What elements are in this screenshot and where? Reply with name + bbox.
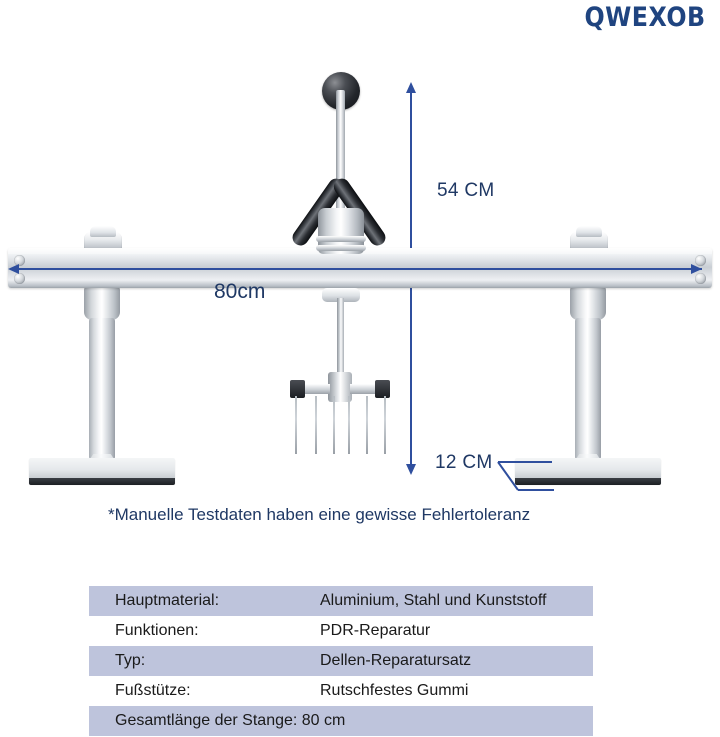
length-arrow-right: [691, 264, 702, 274]
spec-row-label: Typ:: [89, 646, 320, 676]
spec-row-value: PDR-Reparatur: [320, 616, 593, 646]
right-leg-knob-cap: [576, 226, 602, 237]
claw-cap-right: [375, 380, 390, 398]
spec-row-label: Gesamtlänge der Stange: 80 cm: [89, 706, 593, 736]
claw-pin-2: [315, 396, 317, 454]
spec-table-row: Funktionen:PDR-Reparatur: [89, 616, 593, 646]
claw-pin-6: [384, 396, 386, 454]
length-dimension-line: [18, 268, 702, 270]
spec-row-label: Hauptmaterial:: [89, 586, 320, 616]
right-leg-post: [575, 318, 601, 460]
claw-pin-3: [333, 396, 335, 454]
spec-table-row: Gesamtlänge der Stange: 80 cm: [89, 706, 593, 736]
foot-width-bracket: [496, 454, 558, 498]
product-infographic: QWEXOB: [0, 0, 720, 737]
claw-cap-left: [290, 380, 305, 398]
specification-table-body: Hauptmaterial:Aluminium, Stahl und Kunst…: [89, 586, 593, 736]
height-arrow-top: [406, 82, 416, 93]
bar-bolt-left-lower: [14, 273, 25, 284]
foot-width-dimension-label: 12 CM: [435, 452, 492, 474]
left-leg-collar: [84, 286, 120, 320]
specification-table: Hauptmaterial:Aluminium, Stahl und Kunst…: [89, 586, 593, 736]
footnote-text: *Manuelle Testdaten haben eine gewisse F…: [108, 505, 530, 525]
claw-pin-5: [366, 396, 368, 454]
right-leg-collar: [570, 286, 606, 320]
left-base-rubber: [29, 478, 175, 485]
spec-table-row: Fußstütze:Rutschfestes Gummi: [89, 676, 593, 706]
spec-table-row: Hauptmaterial:Aluminium, Stahl und Kunst…: [89, 586, 593, 616]
length-arrow-left: [8, 264, 19, 274]
spec-row-value: Rutschfestes Gummi: [320, 676, 593, 706]
claw-pin-4: [348, 396, 350, 454]
spec-row-label: Fußstütze:: [89, 676, 320, 706]
claw-pin-1: [295, 396, 297, 454]
product-illustration: 80cm 54 CM 12 CM: [0, 40, 720, 490]
lower-shaft: [337, 298, 344, 378]
spec-row-value: Aluminium, Stahl und Kunststoff: [320, 586, 593, 616]
height-arrow-bottom: [406, 464, 416, 475]
height-dimension-label: 54 CM: [437, 180, 494, 202]
bar-bolt-right-lower: [695, 273, 706, 284]
hub-ring-lower: [316, 245, 366, 251]
left-leg-knob-cap: [90, 226, 116, 237]
spec-row-value: Dellen-Reparatursatz: [320, 646, 593, 676]
length-dimension-label: 80cm: [214, 280, 265, 304]
spec-row-label: Funktionen:: [89, 616, 320, 646]
left-leg-post: [89, 318, 115, 460]
hub-ring-upper: [316, 236, 366, 242]
brand-logo: QWEXOB: [585, 2, 706, 34]
spec-table-row: Typ:Dellen-Reparatursatz: [89, 646, 593, 676]
